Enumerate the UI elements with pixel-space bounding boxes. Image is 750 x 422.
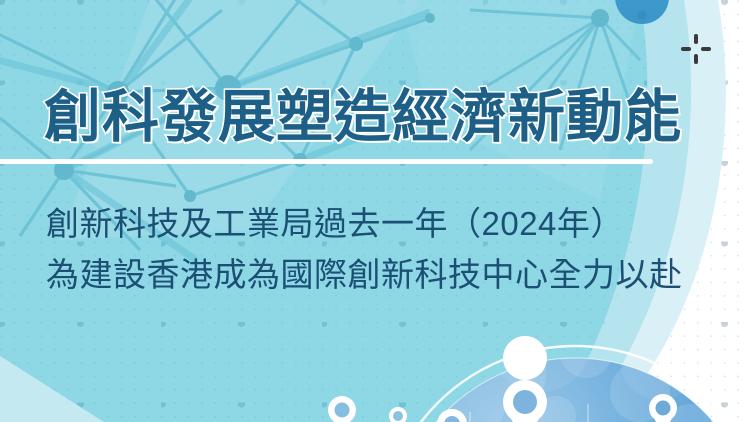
promo-banner: 創科發展塑造經濟新動能 創新科技及工業局過去一年（2024年） 為建設香港成為國… <box>0 0 750 422</box>
banner-background-art <box>0 0 750 422</box>
